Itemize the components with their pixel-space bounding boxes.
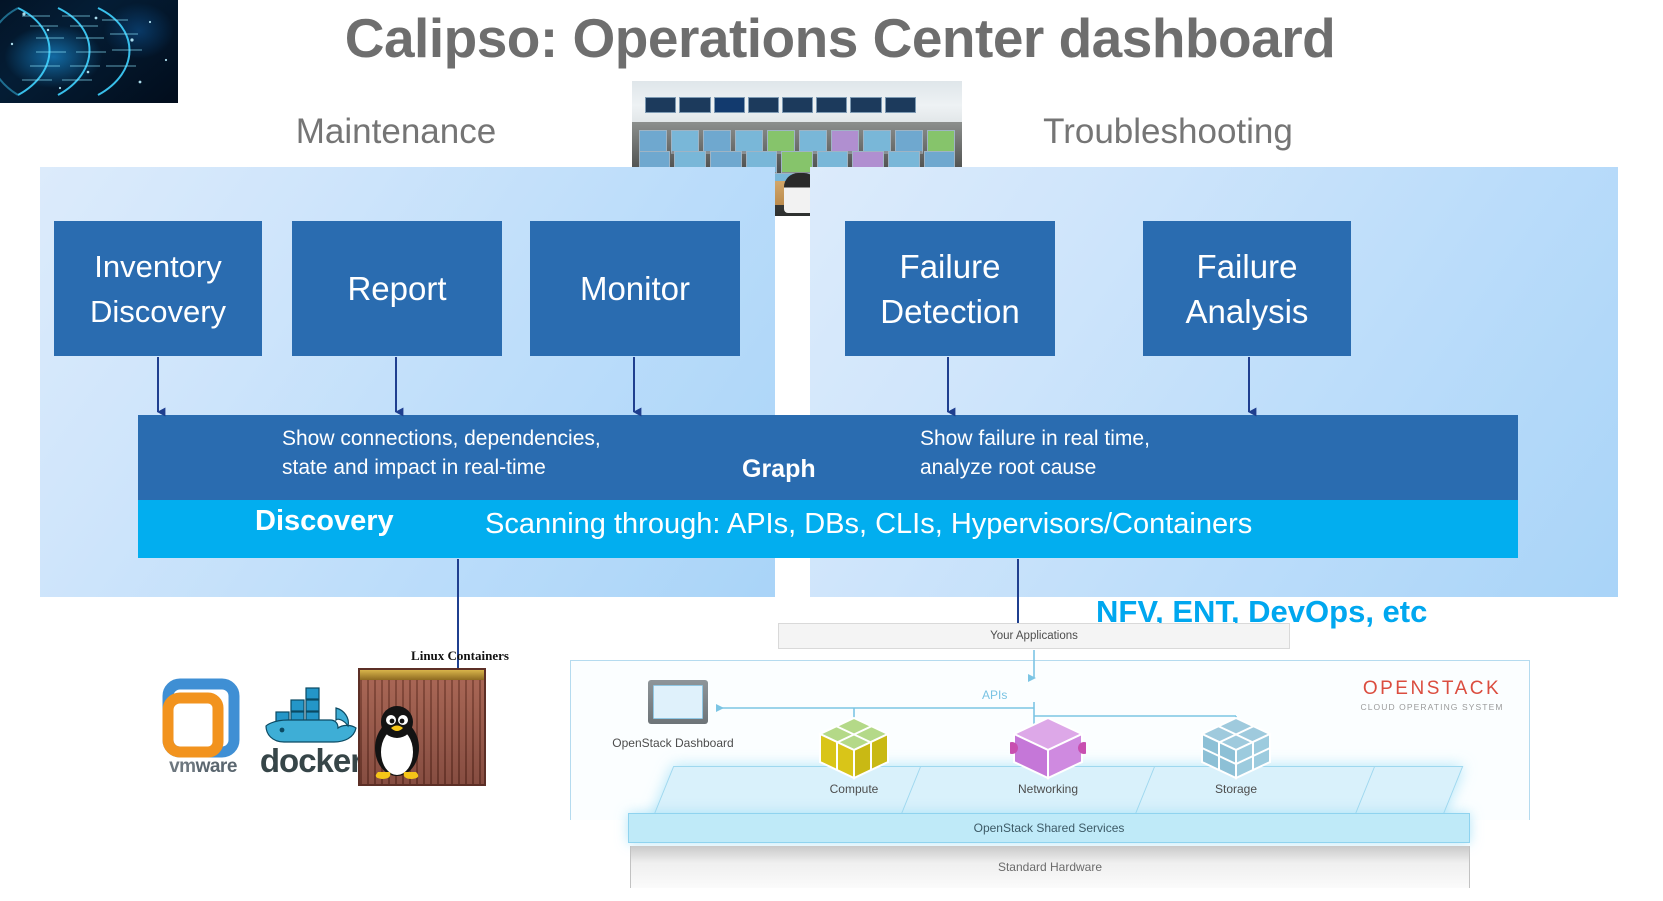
- discovery-layer-label: Discovery: [255, 505, 394, 538]
- graph-layer-label: Graph: [742, 455, 816, 484]
- section-heading-maintenance: Maintenance: [196, 111, 596, 153]
- linux-containers-label: Linux Containers: [380, 648, 540, 664]
- openstack-diagram: Your Applications: [570, 618, 1530, 901]
- dna-helix-image: [0, 0, 178, 103]
- openstack-shared-services-bar: OpenStack Shared Services: [628, 813, 1470, 843]
- box-inventory-discovery-label: Inventory Discovery: [90, 244, 226, 334]
- box-failure-detection[interactable]: Failure Detection: [845, 221, 1055, 356]
- openstack-dashboard-label: OpenStack Dashboard: [588, 736, 758, 750]
- page-title: Calipso: Operations Center dashboard: [170, 6, 1510, 70]
- slide-canvas: Calipso: Operations Center dashboard Mai…: [0, 0, 1663, 901]
- standard-hardware-label: Standard Hardware: [998, 860, 1102, 874]
- photo-wall-screens: [645, 97, 916, 113]
- standard-hardware-bar: Standard Hardware: [630, 846, 1470, 888]
- photo-desk-row: [639, 130, 956, 154]
- docker-wordmark: docker: [246, 742, 376, 780]
- apis-label: APIs: [982, 688, 1007, 702]
- networking-label: Networking: [988, 782, 1108, 796]
- vmware-wordmark-bold: vm: [169, 756, 195, 777]
- box-report[interactable]: Report: [292, 221, 502, 356]
- openstack-dashboard-icon: [648, 680, 708, 724]
- box-failure-analysis[interactable]: Failure Analysis: [1143, 221, 1351, 356]
- openstack-brand-name: OPENSTACK: [1352, 678, 1512, 700]
- storage-cube-icon: [1198, 714, 1274, 784]
- section-heading-troubleshooting: Troubleshooting: [968, 111, 1368, 153]
- graph-right-description: Show failure in real time, analyze root …: [920, 424, 1150, 482]
- openstack-brand-tagline: CLOUD OPERATING SYSTEM: [1352, 702, 1512, 712]
- docker-icon: [258, 668, 362, 746]
- vmware-wordmark: vmware: [155, 756, 251, 778]
- compute-label: Compute: [794, 782, 914, 796]
- box-report-label: Report: [347, 266, 446, 311]
- networking-cube-icon: [1010, 714, 1086, 784]
- box-monitor-label: Monitor: [580, 266, 690, 311]
- storage-label: Storage: [1176, 782, 1296, 796]
- docker-whale-body: [266, 720, 356, 742]
- dna-helix-icon: [0, 0, 178, 103]
- vmware-wordmark-rest: ware: [196, 756, 237, 777]
- discovery-scanning-text: Scanning through: APIs, DBs, CLIs, Hyper…: [485, 506, 1252, 542]
- linux-container-image: [358, 668, 486, 786]
- shared-services-label: OpenStack Shared Services: [974, 821, 1125, 835]
- box-failure-analysis-label: Failure Analysis: [1186, 244, 1309, 334]
- box-monitor[interactable]: Monitor: [530, 221, 740, 356]
- box-inventory-discovery[interactable]: Inventory Discovery: [54, 221, 262, 356]
- compute-cube-icon: [816, 714, 892, 784]
- openstack-brand: OPENSTACK CLOUD OPERATING SYSTEM: [1352, 678, 1512, 712]
- container-top-rail: [360, 670, 484, 680]
- graph-left-description: Show connections, dependencies, state an…: [282, 424, 601, 482]
- box-failure-detection-label: Failure Detection: [880, 244, 1019, 334]
- tux-penguin-icon: [368, 702, 426, 780]
